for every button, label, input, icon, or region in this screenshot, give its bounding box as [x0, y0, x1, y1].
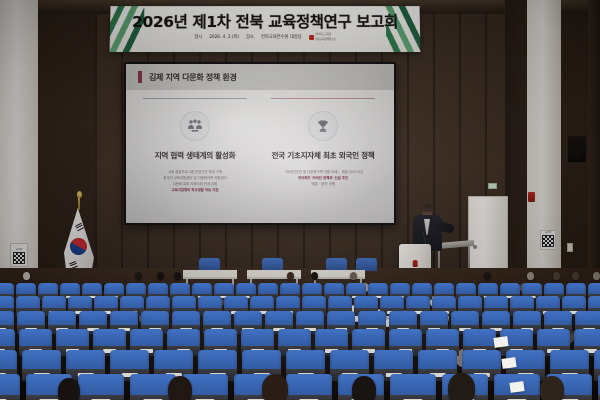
auditorium-seat: [286, 374, 332, 400]
banner-place-value: 전북교육연수원 대강당: [261, 34, 302, 40]
audience-head: [484, 272, 491, 280]
audience-head: [58, 378, 80, 400]
audience-head: [168, 376, 192, 400]
audience-head: [311, 272, 318, 280]
column-rule: [271, 98, 375, 99]
projection-screen: 김제 지역 다문화 정책 환경 지역 협력 생태계의 활성화: [124, 62, 396, 225]
handout-paper: [501, 357, 516, 369]
right-dark-panel: [505, 0, 529, 300]
org-mark-icon: [309, 34, 314, 39]
trophy-icon: [308, 111, 338, 141]
podium-emblem-icon: [412, 260, 417, 267]
audience-head: [23, 272, 30, 280]
column-rule: [143, 98, 247, 99]
auditorium-seat: [0, 374, 20, 400]
audience-head: [352, 376, 376, 400]
audience-head: [350, 272, 357, 280]
qr-notice-left: QR 안내: [10, 243, 28, 267]
audience-head: [540, 376, 564, 400]
slide-column-left: 지역 협력 생태계의 활성화 사회 통합프로그램 운영기관 확대 구축 한국어 …: [136, 98, 254, 216]
audience-head: [527, 272, 534, 280]
slide-column-right: 전국 기초지자체 최초 외국인 정책 「외국인주민 및 다문화가족 지원 조례」…: [264, 98, 382, 216]
slide-title: 김제 지역 다문화 정책 환경: [149, 72, 237, 83]
audience-head: [572, 272, 579, 280]
qr-code-icon: [13, 252, 25, 264]
light-switch[interactable]: [567, 243, 573, 252]
audience-head: [553, 272, 560, 280]
slide: 김제 지역 다문화 정책 환경 지역 협력 생태계의 활성화: [126, 64, 394, 223]
audience-head: [593, 272, 600, 280]
banner-org-logo: 전라북도교육청 전북교육정책연구소: [309, 32, 336, 42]
column-left-body: 사회 통합프로그램 운영기관 확대 구축 한국어 교육지원센터 및 다문화가족 …: [141, 169, 249, 194]
event-banner: 2026년 제1차 전북 교육정책연구 보고회 일시 2026. 4. 2.(목…: [110, 6, 421, 52]
handout-paper: [509, 381, 524, 393]
audience-head: [174, 272, 181, 280]
handout-paper: [493, 336, 508, 348]
flag-pole: [78, 196, 80, 210]
taeguk-symbol-icon: [70, 238, 87, 255]
banner-date-label: 일시: [194, 34, 202, 40]
wall-speaker-icon: [567, 135, 587, 163]
qr-code-icon: [542, 235, 554, 247]
banner-subtitle: 일시 2026. 4. 2.(목) 장소 전북교육연수원 대강당 전라북도교육청…: [110, 32, 421, 42]
audience-head: [287, 272, 294, 280]
banner-date-value: 2026. 4. 2.(목): [209, 34, 239, 40]
exit-sign-icon: [488, 183, 497, 189]
audience-head: [157, 272, 164, 280]
slide-header: 김제 지역 다문화 정책 환경: [126, 64, 394, 90]
audience-head: [448, 373, 475, 400]
column-right-body: 「외국인주민 및 다문화가족 지원 조례」 제정 (2023년) 전국최초 '외…: [269, 169, 377, 187]
audience-head: [262, 374, 288, 400]
conference-hall-screenshot: QR 안내 QR 안내 2026년 제1차 전북 교육정책연구 보고회 일시 2…: [0, 0, 600, 400]
far-right-wall: [588, 0, 600, 300]
banner-org-line2: 전북교육정책연구소: [315, 38, 336, 41]
audience-head: [135, 272, 142, 280]
qr-notice-right: QR 안내: [540, 230, 556, 250]
slide-accent-bar: [138, 71, 142, 83]
banner-org-line1: 전라북도교육청: [315, 33, 331, 36]
banner-title: 2026년 제1차 전북 교육정책연구 보고회: [110, 10, 420, 32]
trigram-icon: [75, 223, 84, 232]
column-right-heading: 전국 기초지자체 최초 외국인 정책: [272, 150, 375, 161]
right-pillar: [527, 0, 561, 300]
people-group-icon: [180, 111, 210, 141]
slide-body: 지역 협력 생태계의 활성화 사회 통합프로그램 운영기관 확대 구축 한국어 …: [126, 90, 394, 223]
column-left-heading: 지역 협력 생태계의 활성화: [155, 150, 236, 161]
auditorium-seat: [78, 374, 124, 400]
auditorium-seat: [390, 374, 436, 400]
fire-alarm-icon: [528, 192, 535, 202]
banner-place-label: 장소: [246, 34, 254, 40]
